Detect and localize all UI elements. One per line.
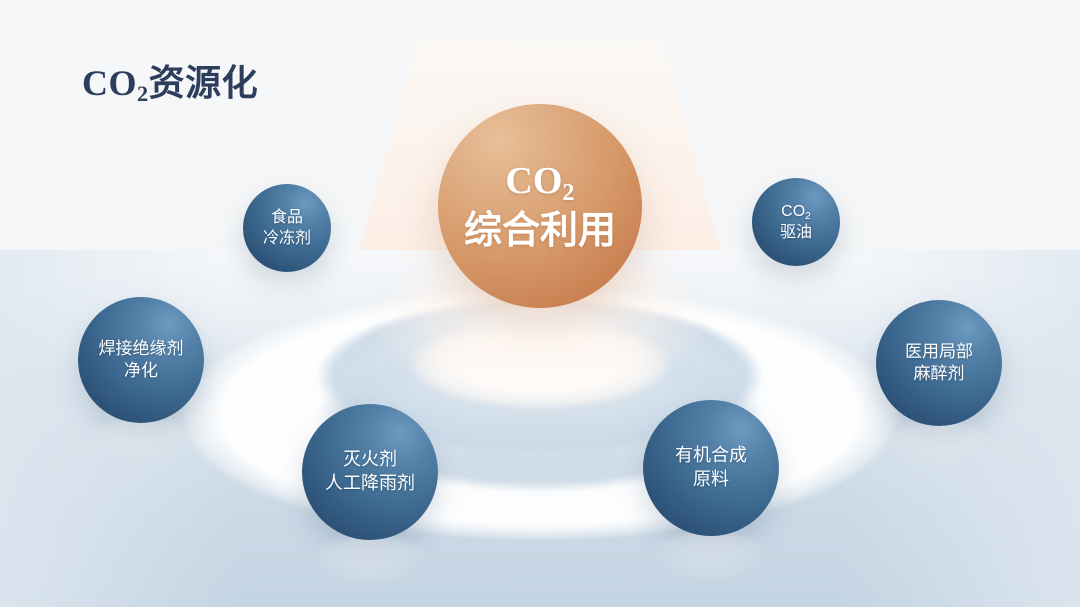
node-label-food-refrigerant: 食品 冷冻剂: [257, 207, 317, 249]
node-label-fire-extinguisher: 灭火剂 人工降雨剂: [319, 448, 421, 496]
node-label-welding-insulation: 焊接绝缘剂 净化: [93, 338, 190, 383]
node-line-2: 麻醉剂: [905, 363, 973, 385]
node-line-2: 综合利用: [464, 206, 616, 256]
node-line-2: 净化: [99, 360, 184, 382]
node-co2-oil-displacement[interactable]: CO2 驱油: [752, 178, 840, 266]
node-food-refrigerant[interactable]: 食品 冷冻剂: [243, 184, 331, 272]
page-title-subscript: 2: [137, 81, 149, 106]
co2-text: CO: [505, 160, 562, 202]
node-line-1: 灭火剂: [325, 448, 415, 472]
slide-canvas: CO2资源化 CO2 综合利用 食品 冷冻剂 CO2 驱油 焊接绝缘剂 净化 医…: [0, 0, 1080, 607]
node-organic-synthesis-feedstock[interactable]: 有机合成 原料: [643, 400, 779, 536]
node-line-1: 医用局部: [905, 341, 973, 363]
node-line-1: 焊接绝缘剂: [99, 338, 184, 360]
node-line-1: CO2: [780, 201, 812, 222]
node-line-2: 原料: [675, 468, 747, 492]
node-line-2: 驱油: [780, 222, 812, 243]
co2-subscript: 2: [562, 179, 574, 206]
node-line-1: CO2: [464, 156, 616, 206]
node-label-co2-comprehensive-utilization: CO2 综合利用: [458, 156, 622, 256]
node-line-1: 食品: [263, 207, 311, 228]
node-welding-insulation[interactable]: 焊接绝缘剂 净化: [78, 297, 204, 423]
node-label-co2-oil-displacement: CO2 驱油: [774, 201, 818, 243]
node-line-1: 有机合成: [675, 444, 747, 468]
node-fire-extinguisher[interactable]: 灭火剂 人工降雨剂: [302, 404, 438, 540]
page-title: CO2资源化: [82, 54, 258, 106]
node-label-medical-local-anesthetic: 医用局部 麻醉剂: [899, 341, 979, 386]
co2-subscript: 2: [805, 211, 811, 222]
node-line-2: 人工降雨剂: [325, 472, 415, 496]
page-title-main: CO: [82, 63, 137, 103]
node-co2-comprehensive-utilization[interactable]: CO2 综合利用: [438, 104, 642, 308]
node-label-organic-synthesis-feedstock: 有机合成 原料: [669, 444, 753, 492]
node-medical-local-anesthetic[interactable]: 医用局部 麻醉剂: [876, 300, 1002, 426]
page-title-rest: 资源化: [149, 63, 259, 103]
co2-text: CO: [781, 203, 805, 220]
node-line-2: 冷冻剂: [263, 228, 311, 249]
